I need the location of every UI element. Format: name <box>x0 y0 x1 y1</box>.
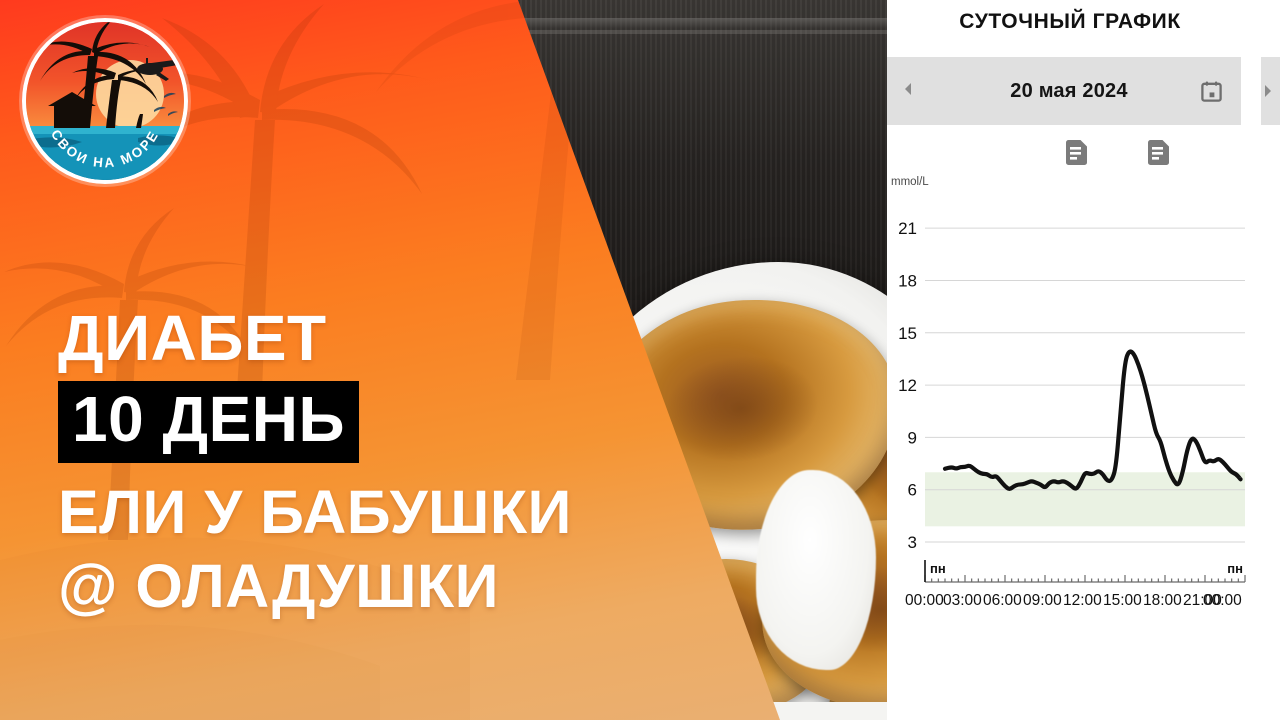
day-of-week-label: пн <box>1227 561 1243 576</box>
y-axis-unit-label: mmol/L <box>891 176 929 188</box>
logo-artwork: СВОИ НА МОРЕ <box>26 22 184 180</box>
glucose-series-line <box>945 352 1241 489</box>
x-axis-tick-label: 15:00 <box>1103 592 1142 610</box>
calendar-picker-button[interactable] <box>1181 80 1241 103</box>
note-icon-2[interactable] <box>1148 140 1169 170</box>
y-axis-tick-label: 3 <box>908 533 917 552</box>
screenshot-stage: СВОИ НА МОРЕ ДИАБЕТ 10 ДЕНЬ ЕЛИ У БАБУШК… <box>0 0 1280 720</box>
y-axis-tick-label: 18 <box>898 271 917 290</box>
note-icon-1[interactable] <box>1066 140 1087 170</box>
current-date-label: 20 мая 2024 <box>929 80 1181 103</box>
y-axis-tick-label: 9 <box>908 428 917 447</box>
calendar-icon <box>1200 80 1223 103</box>
headline-line-4: @ ОЛАДУШКИ <box>58 555 878 617</box>
x-axis-tick-label: 06:00 <box>983 592 1022 610</box>
x-axis-tick-label: 09:00 <box>1023 592 1062 610</box>
channel-logo[interactable]: СВОИ НА МОРЕ <box>22 18 188 184</box>
day-of-week-label: пн <box>930 561 946 576</box>
y-axis-tick-label: 15 <box>898 324 917 343</box>
x-axis-tick-label: 12:00 <box>1063 592 1102 610</box>
x-axis-tick-labels: 00:0003:0006:0009:0012:0015:0018:0021:00… <box>887 592 1253 622</box>
y-axis-tick-label: 12 <box>898 376 917 395</box>
chevron-right-icon <box>1263 84 1273 98</box>
thumbnail-headline: ДИАБЕТ 10 ДЕНЬ ЕЛИ У БАБУШКИ @ ОЛАДУШКИ <box>58 306 878 617</box>
date-navigation-bar: 20 мая 2024 <box>887 57 1241 125</box>
video-thumbnail-panel: СВОИ НА МОРЕ ДИАБЕТ 10 ДЕНЬ ЕЛИ У БАБУШК… <box>0 0 887 720</box>
glucose-chart-panel: СУТОЧНЫЙ ГРАФИК 20 мая 2024 <box>887 0 1253 720</box>
next-day-date-bar-edge[interactable] <box>1261 57 1280 125</box>
page-title: СУТОЧНЫЙ ГРАФИК <box>887 0 1253 34</box>
logo-ring: СВОИ НА МОРЕ <box>22 18 188 184</box>
y-axis-tick-label: 6 <box>908 481 917 500</box>
headline-line-3: ЕЛИ У БАБУШКИ <box>58 481 878 543</box>
prev-day-button[interactable] <box>887 81 929 101</box>
headline-line-1: ДИАБЕТ <box>58 306 878 371</box>
x-axis-tick-label: 00:00 <box>1203 592 1242 610</box>
x-axis-ticks: пнпн <box>887 560 1253 594</box>
x-axis-tick-label: 03:00 <box>943 592 982 610</box>
glucose-line-chart[interactable]: 36912151821 <box>887 190 1253 590</box>
chevron-left-icon <box>902 82 914 96</box>
x-axis-tick-label: 00:00 <box>905 592 944 610</box>
note-document-icon <box>1148 140 1169 165</box>
x-axis-tick-label: 18:00 <box>1143 592 1182 610</box>
target-range-band <box>925 472 1245 526</box>
note-icon-row <box>887 133 1241 177</box>
y-axis-tick-label: 21 <box>898 219 917 238</box>
note-document-icon <box>1066 140 1087 165</box>
headline-line-2-highlighted: 10 ДЕНЬ <box>58 381 359 462</box>
